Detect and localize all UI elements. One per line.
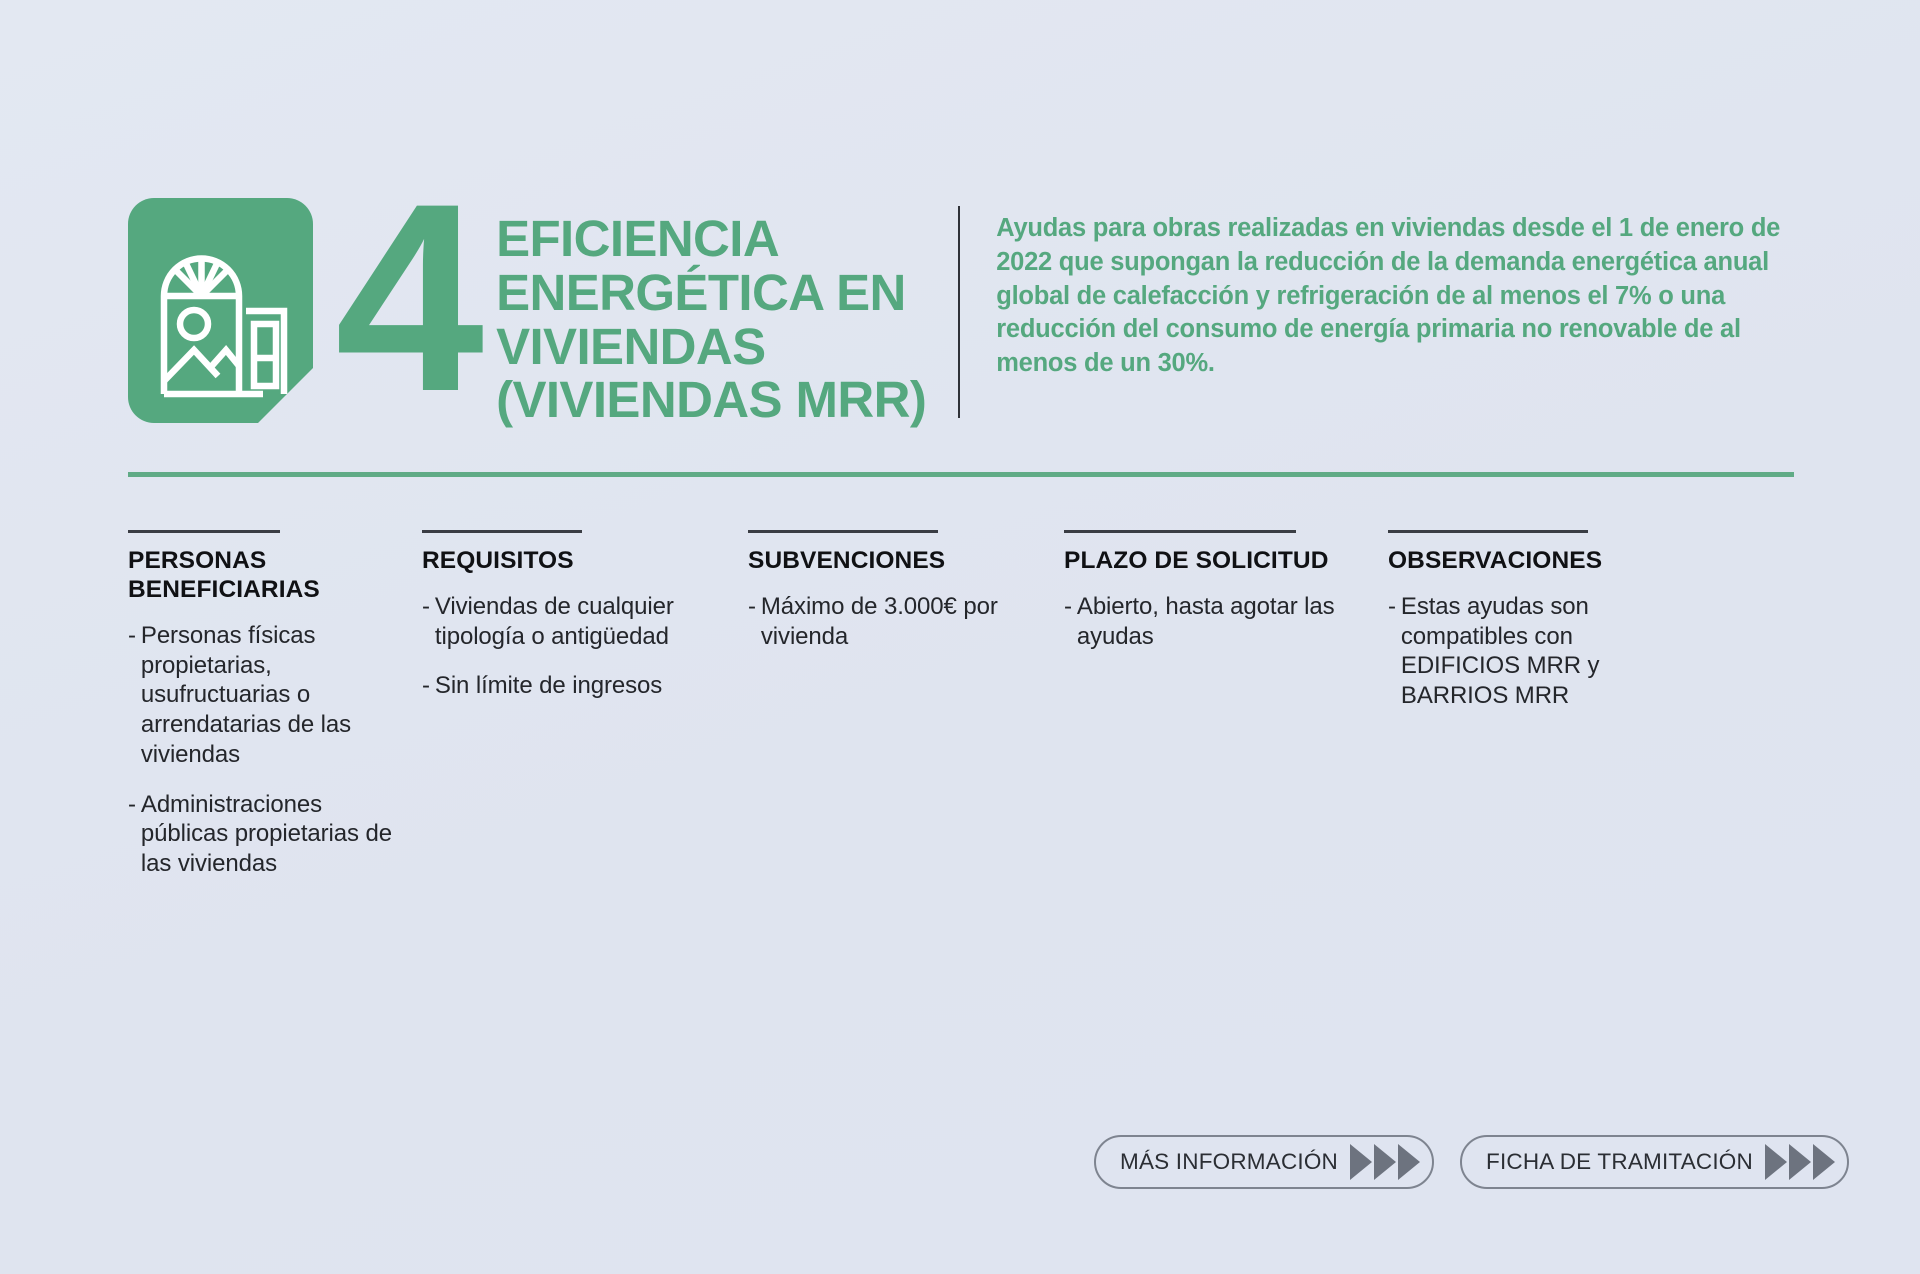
column-subvenciones: SUBVENCIONES - Máximo de 3.000€ por vivi… bbox=[748, 530, 1064, 671]
column-personas-beneficiarias: PERSONAS BENEFICIARIAS - Personas física… bbox=[128, 530, 422, 899]
button-label: MÁS INFORMACIÓN bbox=[1120, 1149, 1338, 1175]
bullet-marker: - bbox=[128, 790, 136, 879]
bullet-marker: - bbox=[748, 592, 756, 652]
list-item-text: Máximo de 3.000€ por vivienda bbox=[761, 592, 1038, 652]
button-label: FICHA DE TRAMITACIÓN bbox=[1486, 1149, 1753, 1175]
column-requisitos: REQUISITOS - Viviendas de cualquier tipo… bbox=[422, 530, 748, 721]
list-item: - Administraciones públicas propietarias… bbox=[128, 790, 396, 879]
column-heading: PERSONAS BENEFICIARIAS bbox=[128, 547, 396, 605]
list-item: - Viviendas de cualquier tipología o ant… bbox=[422, 592, 722, 652]
list-item-text: Abierto, hasta agotar las ayudas bbox=[1077, 592, 1362, 652]
header-description: Ayudas para obras realizadas en vivienda… bbox=[996, 212, 1794, 381]
title-line-4: (VIVIENDAS MRR) bbox=[496, 373, 926, 427]
header: 4 EFICIENCIA ENERGÉTICA EN VIVIENDAS (VI… bbox=[128, 198, 1794, 427]
list-item-text: Sin límite de ingresos bbox=[435, 671, 722, 701]
bullet-marker: - bbox=[422, 671, 430, 701]
column-observaciones: OBSERVACIONES - Estas ayudas son compati… bbox=[1388, 530, 1714, 731]
list-item: - Abierto, hasta agotar las ayudas bbox=[1064, 592, 1362, 652]
bullet-marker: - bbox=[422, 592, 430, 652]
column-rule bbox=[1388, 530, 1588, 533]
column-rule bbox=[748, 530, 938, 533]
action-buttons: MÁS INFORMACIÓN FICHA DE TRAMITACIÓN bbox=[1094, 1135, 1849, 1189]
column-rule bbox=[128, 530, 280, 533]
column-heading: OBSERVACIONES bbox=[1388, 547, 1688, 576]
column-heading: SUBVENCIONES bbox=[748, 547, 1038, 576]
page-title: EFICIENCIA ENERGÉTICA EN VIVIENDAS (VIVI… bbox=[496, 212, 926, 427]
double-chevron-right-icon bbox=[1765, 1141, 1837, 1183]
list-item: - Sin límite de ingresos bbox=[422, 671, 722, 701]
infographic-page: 4 EFICIENCIA ENERGÉTICA EN VIVIENDAS (VI… bbox=[0, 0, 1920, 1274]
header-vertical-divider bbox=[958, 206, 960, 418]
info-columns: PERSONAS BENEFICIARIAS - Personas física… bbox=[128, 530, 1828, 899]
list-item-text: Estas ayudas son compatibles con EDIFICI… bbox=[1401, 592, 1688, 711]
section-divider-green bbox=[128, 472, 1794, 477]
ficha-de-tramitacion-button[interactable]: FICHA DE TRAMITACIÓN bbox=[1460, 1135, 1849, 1189]
mas-informacion-button[interactable]: MÁS INFORMACIÓN bbox=[1094, 1135, 1434, 1189]
bullet-marker: - bbox=[128, 621, 136, 770]
list-item-text: Administraciones públicas propietarias d… bbox=[141, 790, 396, 879]
column-rule bbox=[1064, 530, 1296, 533]
column-heading: PLAZO DE SOLICITUD bbox=[1064, 547, 1362, 576]
list-item: - Personas físicas propietarias, usufruc… bbox=[128, 621, 396, 770]
list-item: - Estas ayudas son compatibles con EDIFI… bbox=[1388, 592, 1688, 711]
column-plazo-de-solicitud: PLAZO DE SOLICITUD - Abierto, hasta agot… bbox=[1064, 530, 1388, 671]
title-line-1: EFICIENCIA bbox=[496, 212, 926, 266]
bullet-marker: - bbox=[1388, 592, 1396, 711]
section-number: 4 bbox=[335, 182, 478, 412]
bullet-marker: - bbox=[1064, 592, 1072, 652]
list-item-text: Viviendas de cualquier tipología o antig… bbox=[435, 592, 722, 652]
column-rule bbox=[422, 530, 582, 533]
column-heading: REQUISITOS bbox=[422, 547, 722, 576]
title-line-3: VIVIENDAS bbox=[496, 320, 926, 374]
title-line-2: ENERGÉTICA EN bbox=[496, 266, 926, 320]
list-item-text: Personas físicas propietarias, usufructu… bbox=[141, 621, 396, 770]
list-item: - Máximo de 3.000€ por vivienda bbox=[748, 592, 1038, 652]
house-window-icon bbox=[128, 198, 313, 423]
double-chevron-right-icon bbox=[1350, 1141, 1422, 1183]
